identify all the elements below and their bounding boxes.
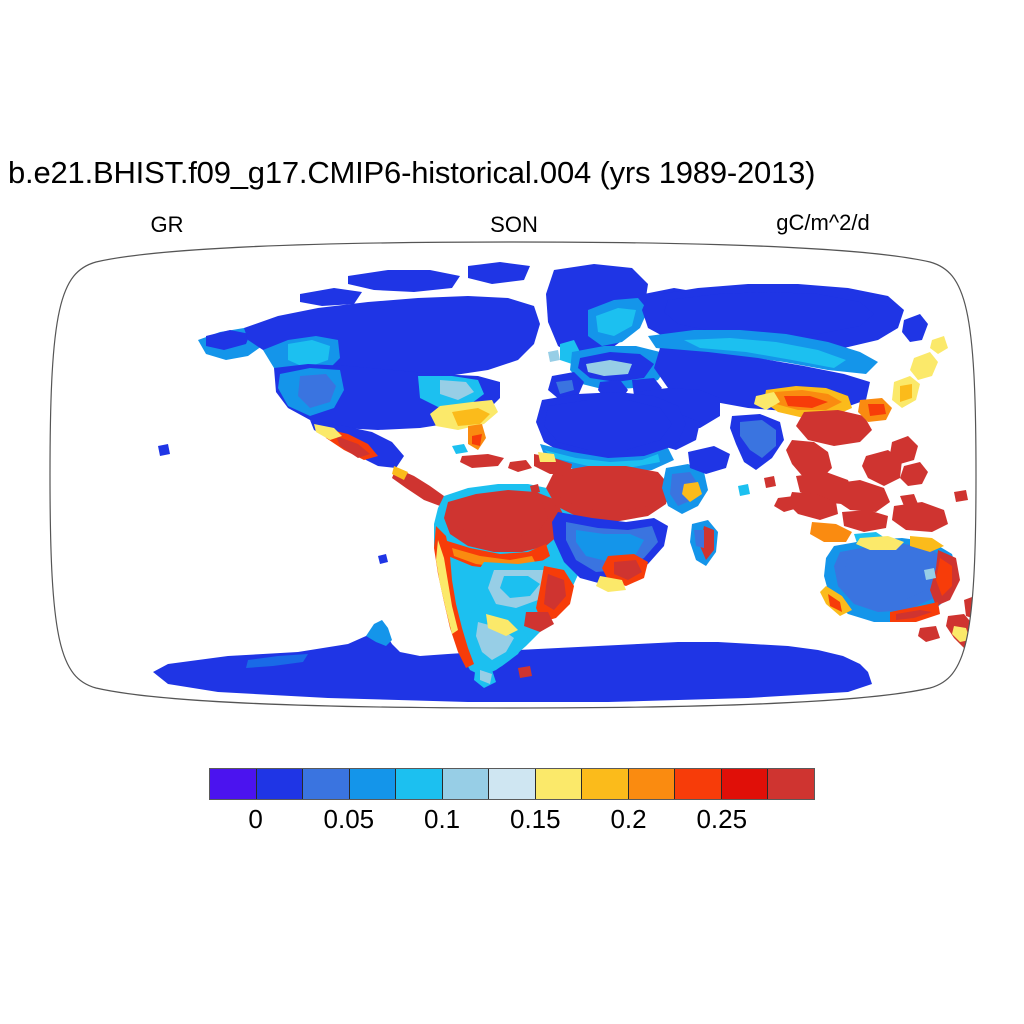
colorbar-tick-0: 0 <box>248 804 262 835</box>
colorbar-segment-7[interactable] <box>536 769 583 799</box>
colorbar-segment-2[interactable] <box>303 769 350 799</box>
colorbar-segment-5[interactable] <box>443 769 490 799</box>
figure-canvas: b.e21.BHIST.f09_g17.CMIP6-historical.004… <box>0 0 1024 1024</box>
map-data-layer <box>153 262 978 702</box>
colorbar[interactable] <box>209 768 815 800</box>
page-title: b.e21.BHIST.f09_g17.CMIP6-historical.004… <box>8 155 815 191</box>
robinson-map-svg <box>48 240 978 710</box>
colorbar-segment-9[interactable] <box>629 769 676 799</box>
units-label: gC/m^2/d <box>776 210 869 236</box>
colorbar-segments[interactable] <box>209 768 815 800</box>
colorbar-segment-12[interactable] <box>768 769 814 799</box>
colorbar-segment-4[interactable] <box>396 769 443 799</box>
colorbar-tick-3: 0.15 <box>510 804 561 835</box>
colorbar-segment-8[interactable] <box>582 769 629 799</box>
colorbar-segment-10[interactable] <box>675 769 722 799</box>
colorbar-segment-6[interactable] <box>489 769 536 799</box>
colorbar-tick-4: 0.2 <box>610 804 646 835</box>
colorbar-tick-1: 0.05 <box>324 804 375 835</box>
variable-label: GR <box>151 212 184 238</box>
colorbar-segment-1[interactable] <box>257 769 304 799</box>
colorbar-tick-labels: 00.050.10.150.20.25 <box>0 800 1024 840</box>
season-label: SON <box>490 212 538 238</box>
colorbar-tick-2: 0.1 <box>424 804 460 835</box>
colorbar-segment-0[interactable] <box>210 769 257 799</box>
map-plot <box>48 240 978 710</box>
colorbar-tick-5: 0.25 <box>696 804 747 835</box>
colorbar-segment-3[interactable] <box>350 769 397 799</box>
colorbar-segment-11[interactable] <box>722 769 769 799</box>
